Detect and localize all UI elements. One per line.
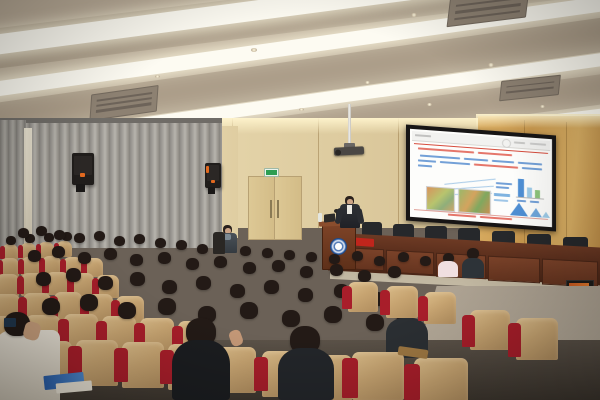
- audience-head: [284, 250, 295, 260]
- slide-bar: [518, 179, 524, 197]
- presenter-laptop[interactable]: [324, 213, 335, 222]
- auditorium-seat[interactable]: [386, 286, 418, 318]
- audience-head: [300, 266, 313, 278]
- slide-body-line: [464, 158, 488, 162]
- audience-shoulders: [438, 261, 458, 277]
- presenter: [338, 196, 362, 230]
- audience-head: [282, 310, 300, 327]
- audience-head: [130, 254, 143, 266]
- audience-head: [114, 236, 125, 246]
- speaker-logo-icon: [211, 180, 215, 183]
- seat-back: [352, 352, 404, 400]
- audience-head: [186, 258, 199, 270]
- seat-cushion: [508, 323, 521, 357]
- audience-member-foreground: [0, 330, 60, 400]
- slide-bar: [527, 187, 532, 197]
- seat-back: [348, 282, 378, 312]
- audience-head: [324, 306, 342, 323]
- host-chair: [213, 232, 225, 254]
- speaker-logo-icon: [80, 173, 85, 177]
- audience-head: [420, 256, 431, 266]
- slide-photo: [426, 186, 455, 212]
- audience-head: [158, 298, 176, 315]
- audience-head: [230, 284, 245, 298]
- audience-head: [358, 270, 371, 282]
- seat-cushion: [342, 358, 358, 398]
- audience-head: [306, 252, 317, 262]
- seat-cushion: [342, 286, 352, 309]
- audience-head: [352, 251, 363, 261]
- slide-triangle-icon: [530, 208, 542, 218]
- audience-head: [264, 280, 279, 294]
- slide-body-line: [518, 162, 542, 166]
- audience-head: [130, 272, 145, 286]
- seat-cushion: [0, 260, 3, 275]
- water-bottle: [318, 213, 322, 222]
- seat-cushion: [380, 290, 390, 315]
- exit-sign: [264, 168, 279, 177]
- audience-head: [240, 246, 251, 256]
- seat-cushion: [39, 258, 45, 273]
- slide-body-line: [420, 155, 460, 160]
- audience-head: [66, 268, 81, 282]
- downlight-icon: [299, 108, 304, 111]
- projector-mount-pole: [348, 104, 351, 146]
- speaker-bracket: [208, 187, 215, 194]
- auditorium-seat[interactable]: [516, 318, 558, 360]
- slide-chart-label: [517, 200, 526, 202]
- wall-seam: [398, 118, 399, 228]
- auditorium-seat[interactable]: [414, 358, 468, 400]
- audience-head: [374, 256, 385, 266]
- projector: [334, 146, 364, 156]
- audience-head: [134, 234, 145, 244]
- wall-speaker-left: [72, 153, 94, 185]
- slide-title-line: [478, 152, 512, 157]
- audience-head: [330, 264, 343, 276]
- auditorium-seat[interactable]: [424, 292, 456, 324]
- audience-head: [243, 262, 256, 274]
- slide-triangle-icon: [542, 211, 550, 218]
- audience-head: [36, 226, 47, 236]
- door-handle[interactable]: [277, 200, 279, 218]
- audience-head: [104, 248, 117, 260]
- seat-back: [424, 292, 456, 324]
- audience-shoulders: [172, 340, 230, 400]
- audience-head: [366, 314, 384, 331]
- audience-head: [42, 298, 60, 315]
- wall-seam: [566, 122, 567, 256]
- audience-head: [94, 231, 105, 241]
- audience-head: [28, 250, 41, 262]
- university-crest-icon: [330, 238, 347, 255]
- seat-back: [516, 318, 558, 360]
- slide-header-circle-icon: [502, 139, 511, 149]
- seat-back: [122, 342, 164, 388]
- downlight-icon: [427, 103, 432, 106]
- downlight-icon: [365, 81, 370, 84]
- slide-body-line: [418, 164, 432, 167]
- slide-label: [496, 186, 509, 189]
- audience-head: [54, 230, 65, 240]
- audience-head: [78, 252, 91, 264]
- speaker-bracket: [76, 184, 85, 192]
- audience-head: [214, 256, 227, 268]
- downlight-icon: [411, 13, 417, 17]
- auditorium-seat[interactable]: [348, 282, 378, 312]
- audience-shoulders: [278, 348, 334, 400]
- audience-head: [197, 244, 208, 254]
- audience-head: [196, 276, 211, 290]
- auditorium-seat[interactable]: [122, 342, 164, 388]
- audience-head: [155, 238, 166, 248]
- audience-head: [298, 288, 313, 302]
- curtain-rail: [0, 118, 222, 123]
- curtain-main: [0, 120, 222, 248]
- slide-arrow: [494, 193, 510, 197]
- speaker-logo-icon: [206, 166, 209, 173]
- audience-head: [262, 248, 273, 258]
- seat-back: [414, 358, 468, 400]
- seat-cushion: [418, 296, 428, 321]
- audience-shoulders: [462, 258, 484, 278]
- audience-head: [6, 236, 16, 245]
- audience-head: [118, 302, 136, 319]
- downlight-icon: [251, 48, 257, 52]
- slide-caption: [448, 214, 476, 218]
- seat-cushion: [17, 276, 24, 294]
- audience-head: [240, 302, 258, 319]
- seat-cushion: [462, 315, 475, 347]
- audience-head: [329, 254, 340, 264]
- audience-head: [162, 280, 177, 294]
- audience-head: [74, 233, 85, 243]
- seat-cushion: [404, 364, 420, 400]
- auditorium-photo: [0, 0, 600, 400]
- audience-head: [18, 228, 29, 238]
- auditorium-seat[interactable]: [470, 310, 510, 350]
- door-handle[interactable]: [270, 200, 272, 218]
- smartphone[interactable]: [4, 318, 16, 327]
- audience-head: [388, 266, 401, 278]
- audience-head: [158, 252, 171, 264]
- audience-head: [272, 260, 285, 272]
- slide-body-highlight: [474, 163, 518, 168]
- slide-label: [496, 182, 512, 185]
- slide-photo: [458, 188, 491, 214]
- audience-head: [98, 276, 113, 290]
- downlight-icon: [540, 105, 545, 108]
- auditorium-seat[interactable]: [352, 352, 404, 400]
- seat-back: [470, 310, 510, 350]
- slide-body-line: [522, 167, 542, 170]
- audience-head: [52, 246, 65, 258]
- seat-back: [386, 286, 418, 318]
- exit-sign-icon: [266, 170, 277, 175]
- exit-door-left[interactable]: [248, 176, 276, 240]
- slide-body-line: [492, 160, 514, 164]
- slide-arrow: [494, 199, 508, 202]
- seat-cushion: [114, 348, 128, 382]
- projector-lens-icon: [335, 149, 341, 155]
- slide-body-line: [440, 161, 470, 165]
- downlight-icon: [155, 75, 160, 78]
- presenter-shirt: [347, 205, 352, 214]
- projection-screen: [410, 129, 552, 227]
- slide-title-line: [418, 147, 474, 153]
- slide-triangle-icon: [510, 202, 528, 216]
- audience-head: [398, 252, 409, 262]
- slide-diagram-line: [444, 179, 495, 185]
- slide-chart-label: [530, 201, 539, 203]
- audience-head: [80, 294, 98, 311]
- seat-cushion: [18, 259, 24, 274]
- slide-body-line: [418, 159, 436, 162]
- audience-head: [176, 240, 187, 250]
- stage-panel-section: [488, 256, 540, 284]
- seat-cushion: [254, 357, 268, 391]
- wall-seam: [318, 118, 319, 228]
- downlight-icon: [488, 63, 494, 67]
- audience-head: [36, 272, 51, 286]
- host-scarf: [224, 234, 231, 240]
- wall-speaker-right: [205, 163, 221, 188]
- wall-cove-glow: [476, 114, 600, 128]
